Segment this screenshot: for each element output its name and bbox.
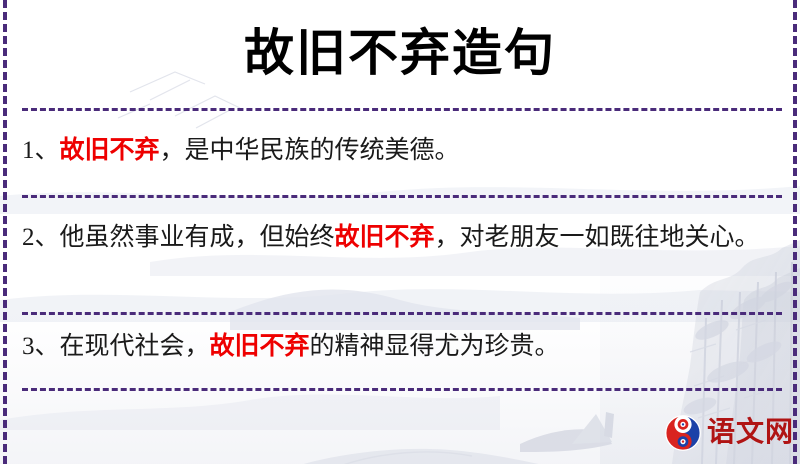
example-sentence-1: 1、故旧不弃，是中华民族的传统美德。 (22, 131, 784, 171)
sentence-3-head: 在现代社会， (60, 333, 210, 360)
example-sentence-3: 3、在现代社会，故旧不弃的精神显得尤为珍贵。 (22, 327, 784, 367)
sentence-2-head: 他虽然事业有成，但始终 (60, 224, 335, 251)
divider-rule-1 (22, 108, 782, 111)
sentence-1-keyword: 故旧不弃 (60, 137, 160, 164)
sentence-3-tail: 的精神显得尤为珍贵。 (310, 333, 560, 360)
slide-page: 故旧不弃造句 1、故旧不弃，是中华民族的传统美德。 2、他虽然事业有成，但始终故… (0, 0, 800, 464)
site-watermark: 语文网 (664, 414, 794, 452)
sentence-3-keyword: 故旧不弃 (210, 333, 310, 360)
sentence-1-tail: ，是中华民族的传统美德。 (160, 137, 460, 164)
sentence-2-keyword: 故旧不弃 (335, 224, 435, 251)
divider-rule-4 (22, 388, 782, 391)
watermark-label: 语文网 (707, 418, 794, 448)
sentence-2-tail: ，对老朋友一如既往地关心。 (435, 224, 760, 251)
yin-yang-fish-logo-icon (664, 414, 702, 452)
sentence-1-index: 1、 (22, 137, 60, 164)
divider-rule-3 (22, 312, 782, 315)
sentence-3-index: 3、 (22, 333, 60, 360)
sentence-2-index: 2、 (22, 224, 60, 251)
example-sentence-2: 2、他虽然事业有成，但始终故旧不弃，对老朋友一如既往地关心。 (22, 218, 784, 258)
divider-rule-2 (22, 195, 782, 198)
page-title: 故旧不弃造句 (0, 24, 800, 82)
